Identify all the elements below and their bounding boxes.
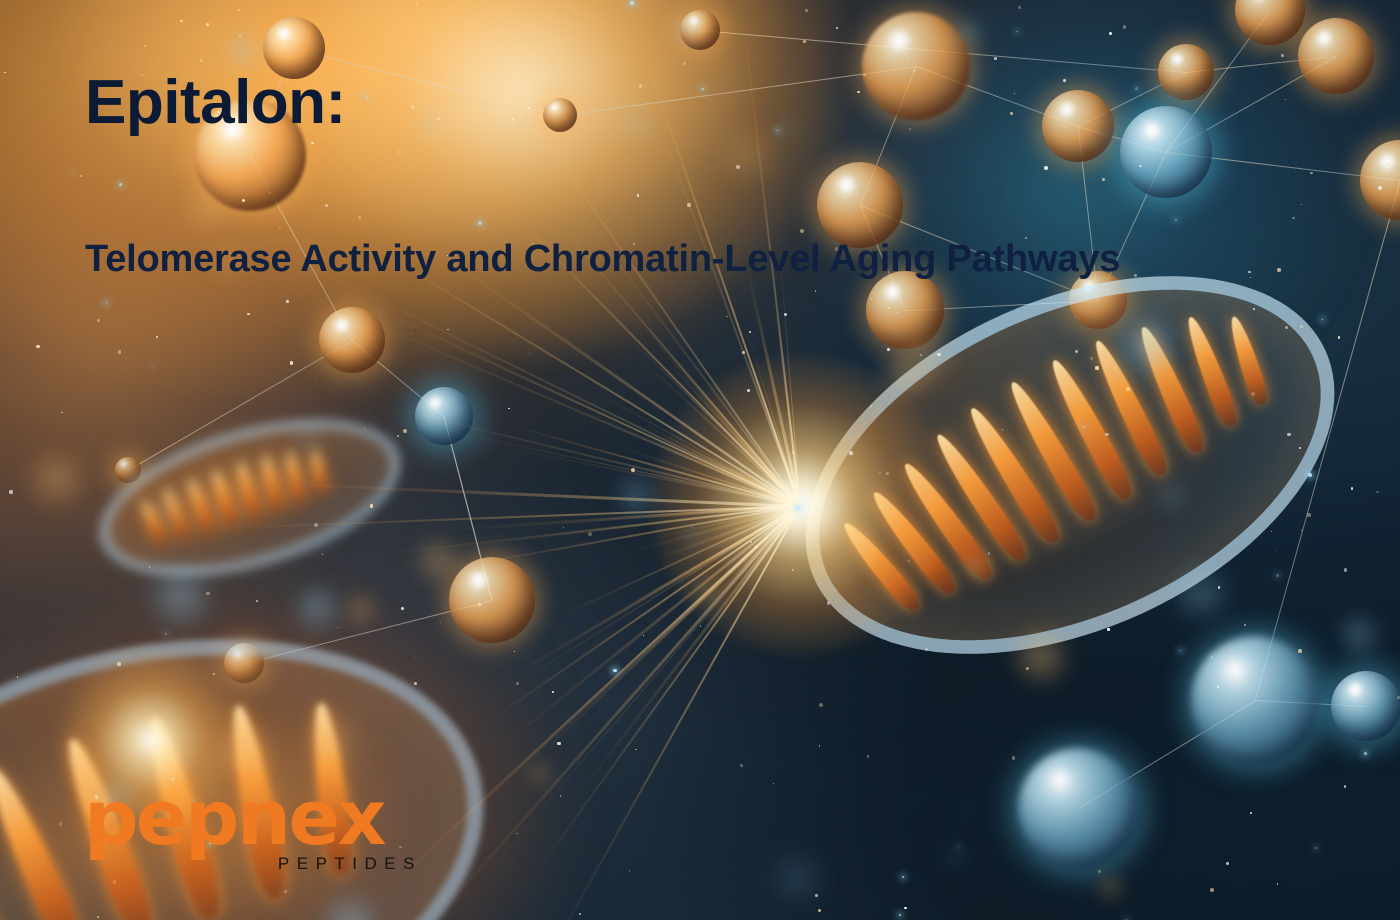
molecule-atom: [1298, 18, 1374, 94]
atom-specular: [428, 396, 443, 408]
molecule-atom: [1360, 140, 1400, 220]
page-title: Epitalon:: [85, 72, 1205, 134]
molecule-atom: [449, 557, 535, 643]
pepnex-logo[interactable]: pepnex PEPTIDES: [84, 784, 424, 874]
atom-specular: [334, 318, 351, 331]
molecule-atom: [1331, 671, 1400, 741]
atom-specular: [886, 29, 914, 51]
page-subtitle: Telomerase Activity and Chromatin-Level …: [85, 134, 1135, 293]
title-block: Epitalon: Telomerase Activity and Chroma…: [85, 72, 1205, 293]
atom-specular: [468, 571, 490, 588]
molecule-atom: [680, 10, 720, 50]
atom-specular: [689, 16, 699, 24]
atom-specular: [1378, 153, 1399, 169]
atom-specular: [1044, 767, 1075, 791]
molecule-atom: [1235, 0, 1305, 45]
molecule-atom: [1191, 636, 1319, 764]
molecule-atom: [1018, 748, 1138, 868]
atom-specular: [1315, 30, 1335, 45]
atom-specular: [1346, 682, 1364, 696]
atom-specular: [1170, 53, 1185, 64]
molecule-atom: [319, 307, 385, 373]
logo-wordmark: pepnex: [84, 784, 424, 852]
article-hero-banner: Epitalon: Telomerase Activity and Chroma…: [0, 0, 1400, 920]
atom-specular: [121, 461, 128, 466]
atom-specular: [277, 27, 293, 39]
atom-specular: [1219, 656, 1252, 682]
